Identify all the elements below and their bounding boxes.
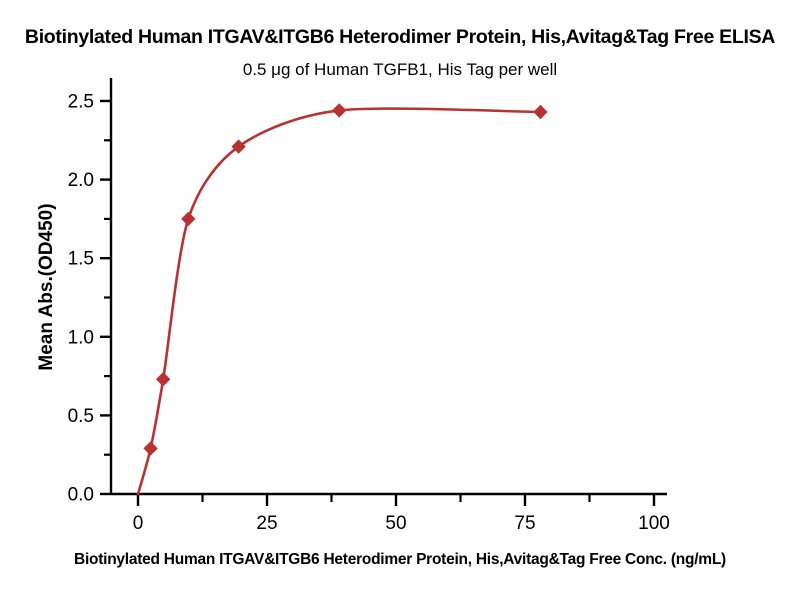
y-tick-label: 1.0 bbox=[68, 327, 94, 348]
plot-area: 0.00.51.01.52.02.5 0255075100 bbox=[0, 0, 800, 600]
data-point-marker bbox=[156, 372, 170, 386]
x-tick-label: 25 bbox=[256, 513, 277, 534]
x-tick-label: 75 bbox=[514, 513, 535, 534]
x-tick-label: 50 bbox=[385, 513, 406, 534]
y-tick-label: 0.5 bbox=[68, 406, 94, 427]
x-axis-ticks: 0255075100 bbox=[133, 494, 670, 534]
data-point-marker bbox=[332, 103, 346, 117]
y-axis-ticks: 0.00.51.01.52.02.5 bbox=[68, 92, 111, 506]
data-point-marker bbox=[533, 105, 547, 119]
chart-figure: Biotinylated Human ITGAV&ITGB6 Heterodim… bbox=[0, 0, 800, 600]
data-point-marker bbox=[181, 212, 195, 226]
y-tick-label: 0.0 bbox=[68, 485, 94, 506]
x-tick-label: 0 bbox=[133, 513, 144, 534]
y-tick-label: 1.5 bbox=[68, 249, 94, 270]
data-point-marker bbox=[143, 441, 157, 455]
data-curve bbox=[138, 109, 540, 494]
y-tick-label: 2.0 bbox=[68, 170, 94, 191]
x-tick-label: 100 bbox=[638, 513, 670, 534]
y-tick-label: 2.5 bbox=[68, 92, 94, 113]
data-markers bbox=[143, 103, 547, 455]
